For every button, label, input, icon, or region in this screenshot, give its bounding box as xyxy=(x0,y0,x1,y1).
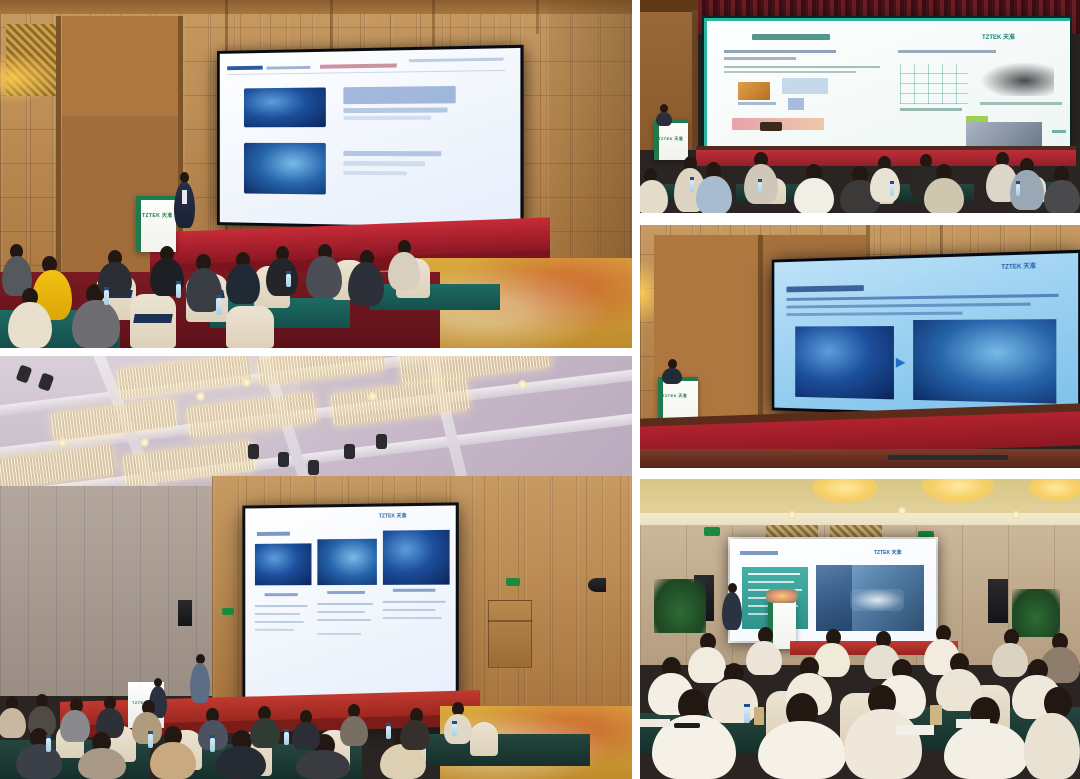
arrow-icon xyxy=(896,358,906,368)
front-attendee xyxy=(944,723,1028,779)
presentation-slide xyxy=(220,48,521,228)
panel-top-left: TZTEK 天准 xyxy=(0,0,632,348)
panel-mid-right: TZTEK 天准 TZTEK 天准 xyxy=(640,225,1080,468)
loudspeaker xyxy=(988,579,1008,623)
spotlight xyxy=(376,434,387,449)
spotlight xyxy=(344,444,355,459)
slide-brand-logo: TZTEK 天准 xyxy=(1001,261,1036,271)
slide-brand-logo: TZTEK 天准 xyxy=(982,32,1015,41)
exit-sign xyxy=(506,578,520,586)
led-screen-frame: TZTEK 天准 xyxy=(772,250,1080,421)
slide-image-2 xyxy=(244,143,326,195)
wall-door xyxy=(488,600,532,668)
photo-collage: TZTEK 天准 xyxy=(0,0,1080,779)
audience-area xyxy=(640,140,1080,213)
spotlight xyxy=(278,452,289,467)
panel-top-right: TZTEK 天准 xyxy=(640,0,1080,213)
audience-area xyxy=(640,619,1080,779)
led-screen-frame xyxy=(217,45,524,231)
slide-brand-logo: TZTEK 天准 xyxy=(874,549,902,556)
projection-screen-frame: TZTEK 天准 xyxy=(702,16,1072,148)
slide-photo-left xyxy=(795,326,894,399)
panel-bottom-right: TZTEK 天准 xyxy=(640,479,1080,779)
slide-image-1 xyxy=(255,543,312,585)
podium-logo: TZTEK 天准 xyxy=(662,393,687,399)
exit-sign xyxy=(222,608,234,615)
presenter-body xyxy=(174,182,195,228)
front-attendee xyxy=(758,721,846,779)
loudspeaker xyxy=(178,600,192,626)
podium-logo: TZTEK 天准 xyxy=(142,212,173,219)
loudspeaker xyxy=(588,578,606,592)
slide-image-3 xyxy=(383,530,450,585)
front-attendee xyxy=(844,709,922,779)
slide-image-2 xyxy=(317,539,377,585)
spotlight xyxy=(248,444,259,459)
presentation-slide: TZTEK 天准 xyxy=(774,253,1078,417)
front-attendee xyxy=(1024,713,1080,779)
slide-photo-right xyxy=(913,319,1056,403)
slide-image-1 xyxy=(244,87,326,127)
panel-bottom-left: TZTEK 天准 xyxy=(0,356,632,779)
spotlight xyxy=(308,460,319,475)
flower-arrangement xyxy=(766,589,798,603)
audience-area xyxy=(0,232,632,348)
slide-brand-logo: TZTEK 天准 xyxy=(379,512,407,519)
presentation-slide: TZTEK 天准 xyxy=(704,18,1070,146)
audience-area xyxy=(0,686,632,779)
exit-sign xyxy=(704,527,720,536)
